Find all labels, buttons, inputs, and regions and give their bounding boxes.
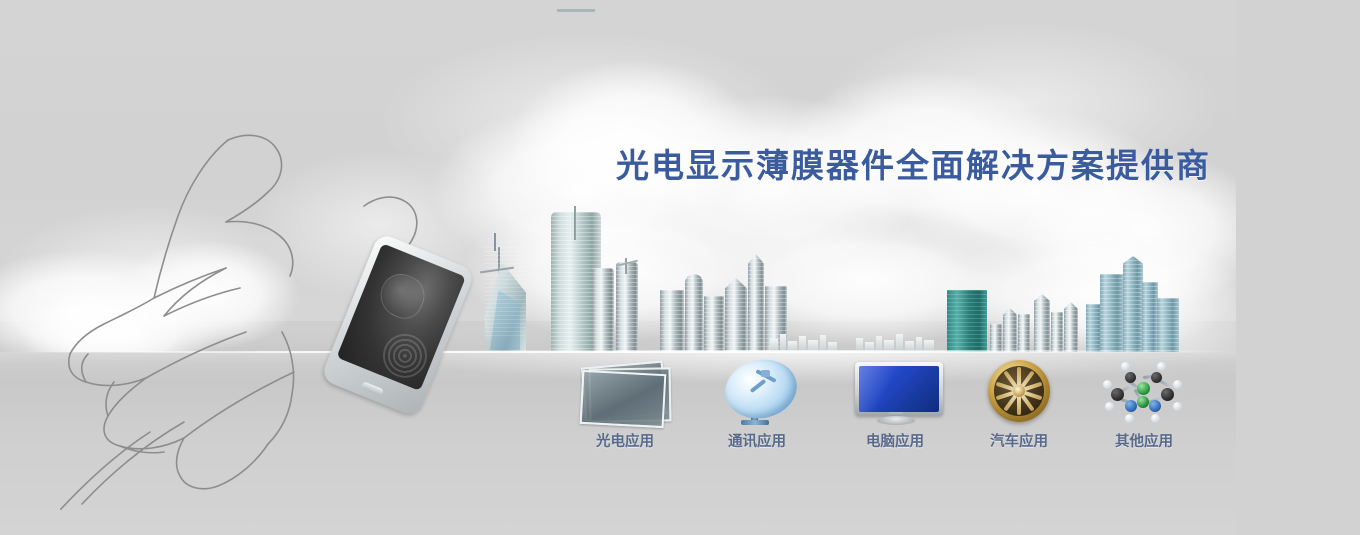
hero-banner: 光电显示薄膜器件全面解决方案提供商 光电应用 通讯应用 — [0, 0, 1360, 535]
molecule-icon — [1099, 358, 1189, 424]
atom-carbon — [1111, 388, 1124, 401]
skyline-building-s6 — [1064, 302, 1078, 352]
skyline-building-s4 — [1034, 294, 1050, 352]
skyline-building-s5 — [1051, 312, 1063, 352]
banner-right-filler — [1236, 0, 1360, 535]
skyline-building-s1 — [990, 324, 1002, 352]
atom-carbon — [1151, 372, 1162, 383]
skyline-building-s3 — [1018, 314, 1030, 352]
alloy-wheel-icon — [974, 358, 1064, 424]
application-item-other[interactable]: 其他应用 — [1097, 358, 1191, 451]
skyline-building-burj — [478, 247, 534, 352]
skyline-building-teal — [947, 290, 987, 352]
screen-swirl-graphic — [374, 268, 431, 325]
application-label: 其他应用 — [1097, 430, 1191, 451]
skyline-building-c3 — [704, 296, 724, 352]
atom-carbon — [1125, 372, 1136, 383]
hand-phone-illustration — [60, 110, 480, 510]
skyline-building-r3 — [1123, 256, 1143, 352]
atom-hydrogen — [1121, 362, 1130, 371]
atom-metal-center — [1137, 396, 1149, 408]
skyline-building-c4 — [725, 278, 747, 352]
skyline-building-c2 — [685, 274, 703, 352]
atom-metal-center — [1137, 382, 1150, 395]
application-item-optoelectronic[interactable]: 光电应用 — [573, 362, 677, 451]
glass-sheets-icon — [575, 362, 675, 424]
atom-carbon — [1161, 388, 1174, 401]
atom-hydrogen — [1151, 414, 1160, 423]
atom-hydrogen — [1105, 402, 1114, 411]
page-title: 光电显示薄膜器件全面解决方案提供商 — [616, 139, 1211, 187]
skyline-building-r5 — [1157, 298, 1179, 352]
application-item-computer[interactable]: 电脑应用 — [845, 362, 945, 451]
skyline-building-twin-left — [592, 268, 614, 352]
atom-hydrogen — [1157, 362, 1166, 371]
application-label: 通讯应用 — [707, 430, 807, 451]
atom-hydrogen — [1125, 414, 1134, 423]
computer-monitor-icon — [847, 362, 943, 424]
atom-nitrogen — [1125, 400, 1137, 412]
atom-hydrogen — [1173, 380, 1182, 389]
application-label: 电脑应用 — [845, 430, 945, 451]
screen-ripple-graphic — [376, 327, 433, 384]
atom-hydrogen — [1173, 402, 1182, 411]
application-item-automotive[interactable]: 汽车应用 — [972, 358, 1066, 451]
application-label: 光电应用 — [573, 430, 677, 451]
phone-home-button — [361, 381, 384, 396]
banner-photo-panel: 光电显示薄膜器件全面解决方案提供商 光电应用 通讯应用 — [0, 0, 1236, 535]
satellite-dish-icon — [709, 358, 805, 424]
skyline-building-r4 — [1142, 282, 1158, 352]
skyline-building-c1 — [660, 290, 684, 352]
application-label: 汽车应用 — [972, 430, 1066, 451]
skyline-building-s2 — [1003, 308, 1017, 352]
atom-nitrogen — [1149, 400, 1161, 412]
atom-hydrogen — [1103, 380, 1112, 389]
application-item-communication[interactable]: 通讯应用 — [707, 358, 807, 451]
skyline-building-c5 — [748, 254, 764, 352]
skyline-building-r2 — [1100, 274, 1124, 352]
skyline-building-twin-right — [616, 262, 638, 352]
